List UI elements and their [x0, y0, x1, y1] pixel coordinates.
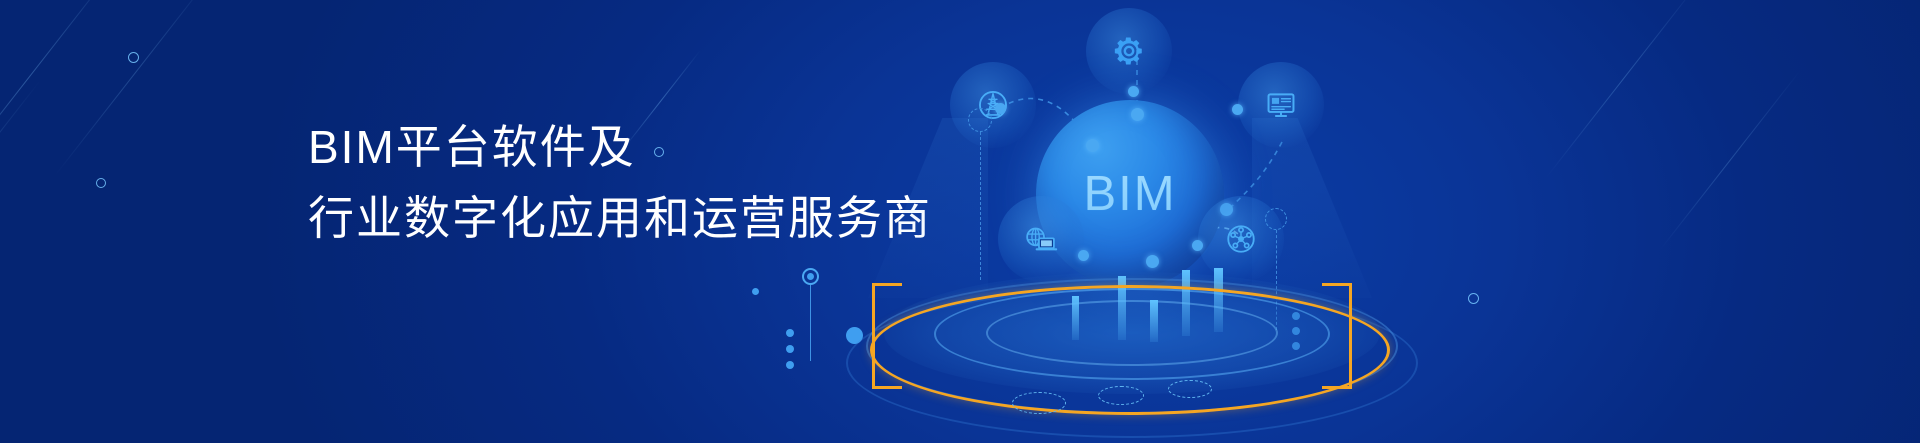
decor-streak-6 [1658, 70, 1801, 252]
node-network-connector-dot [1192, 240, 1203, 251]
decor-dash-circle-right [1265, 208, 1287, 230]
node-gear-connector-dot [1128, 86, 1139, 97]
decor-solid-stalk [810, 285, 811, 361]
accent-bracket [872, 283, 902, 389]
decor-streak-5 [1546, 0, 1701, 178]
headline-line-1: BIM平台软件及 [308, 112, 932, 183]
decor-dot-tiny-a [752, 288, 759, 295]
node-globe-laptop-connector-dot [1078, 250, 1089, 261]
decor-dotcol-left-3 [786, 361, 794, 369]
decor-dotcol-left-1 [786, 329, 794, 337]
gear-icon [1112, 34, 1146, 68]
node-gear[interactable] [1086, 8, 1172, 94]
sphere-anchor-gear [1131, 108, 1144, 121]
node-monitor-connector-dot [1232, 104, 1243, 115]
sphere-anchor-globe [1146, 255, 1159, 268]
decor-circle-2 [96, 178, 106, 188]
globe-laptop-icon [1022, 222, 1060, 256]
decor-dash-circle-left [968, 108, 992, 132]
decor-circle-1 [128, 52, 139, 63]
node-globe-laptop[interactable] [998, 196, 1084, 282]
accent-bracket-right [1322, 283, 1352, 389]
node-power-tower-connector-dot [995, 103, 1006, 114]
network-icon [1224, 222, 1258, 256]
node-power-tower[interactable] [950, 62, 1036, 148]
monitor-icon [1264, 88, 1298, 122]
decor-dash-stalk-left [980, 132, 981, 280]
headline-line-2: 行业数字化应用和运营服务商 [308, 183, 932, 254]
decor-ring-dot-center [807, 273, 814, 280]
decor-dotcol-left-2 [786, 345, 794, 353]
marker-ellipse-1 [1012, 392, 1066, 414]
decor-circle-4 [1468, 293, 1479, 304]
sphere-anchor-tower [1086, 139, 1099, 152]
decor-streak-2 [55, 0, 216, 176]
page-title: BIM平台软件及 行业数字化应用和运营服务商 [308, 112, 932, 254]
node-monitor[interactable] [1238, 62, 1324, 148]
hero-banner: BIM平台软件及 行业数字化应用和运营服务商 BIM [0, 0, 1920, 443]
marker-ellipse-3 [1168, 380, 1212, 398]
marker-ellipse-2 [1098, 386, 1144, 405]
